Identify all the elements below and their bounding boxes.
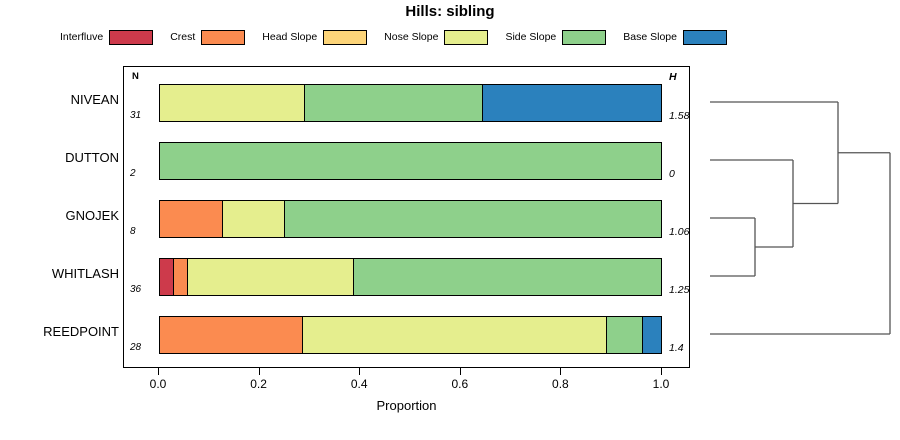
row-n-value: 31 (130, 110, 141, 121)
y-axis-label: GNOJEK (0, 208, 119, 223)
row-n-value: 28 (130, 342, 141, 353)
legend-item-label: Side Slope (505, 31, 556, 43)
row-h-value: 1.4 (669, 342, 684, 354)
h-column-header: H (669, 71, 677, 83)
stacked-bar (159, 200, 662, 238)
legend-item-label: Base Slope (623, 31, 677, 43)
dendrogram-svg (690, 66, 900, 368)
bar-segment (188, 259, 354, 295)
bar-segment (285, 201, 661, 237)
y-axis-label: NIVEAN (0, 92, 119, 107)
stacked-bar (159, 316, 662, 354)
x-axis-tick (259, 368, 260, 375)
y-axis-label: WHITLASH (0, 266, 119, 281)
stacked-bar (159, 258, 662, 296)
legend-item-label: Interfluve (60, 31, 103, 43)
x-axis-tick-label: 0.8 (552, 377, 569, 391)
row-h-value: 0 (669, 168, 675, 180)
bar-segment (354, 259, 661, 295)
bar-segment (305, 85, 483, 121)
legend-item: Crest (170, 30, 245, 45)
bar-segment (483, 85, 661, 121)
bar-segment (160, 201, 223, 237)
bar-segment (643, 317, 661, 353)
bar-segment (607, 317, 643, 353)
row-n-value: 36 (130, 284, 141, 295)
bar-segment (160, 85, 305, 121)
bar-segment (223, 201, 286, 237)
x-axis-tick-label: 0.0 (150, 377, 167, 391)
legend: InterfluveCrestHead SlopeNose SlopeSide … (60, 28, 840, 46)
bar-segment (160, 317, 303, 353)
y-axis-label: DUTTON (0, 150, 119, 165)
legend-item: Nose Slope (384, 30, 488, 45)
stacked-bar (159, 84, 662, 122)
legend-item-label: Nose Slope (384, 31, 438, 43)
bar-segment (303, 317, 607, 353)
bar-row (124, 84, 691, 122)
legend-swatch (562, 30, 606, 45)
legend-swatch (201, 30, 245, 45)
stacked-bar-plot-panel: NH311.582081.06361.25281.4 (123, 66, 690, 368)
bar-segment (174, 259, 188, 295)
x-axis-tick-label: 0.2 (250, 377, 267, 391)
row-h-value: 1.06 (669, 226, 689, 238)
row-n-value: 8 (130, 226, 136, 237)
dendrogram (690, 66, 900, 368)
row-h-value: 1.25 (669, 284, 689, 296)
bar-row (124, 200, 691, 238)
bar-segment (160, 143, 661, 179)
legend-item-label: Crest (170, 31, 195, 43)
bar-segment (160, 259, 174, 295)
bar-row (124, 316, 691, 354)
x-axis-tick (661, 368, 662, 375)
x-axis-tick (460, 368, 461, 375)
legend-swatch (323, 30, 367, 45)
legend-swatch (683, 30, 727, 45)
row-n-value: 2 (130, 168, 136, 179)
x-axis-tick-label: 1.0 (653, 377, 670, 391)
bar-row (124, 142, 691, 180)
page-title: Hills: sibling (0, 3, 900, 20)
x-axis-tick (359, 368, 360, 375)
bar-row (124, 258, 691, 296)
y-axis-label: REEDPOINT (0, 324, 119, 339)
x-axis-tick (158, 368, 159, 375)
x-axis-tick (560, 368, 561, 375)
x-axis-tick-label: 0.4 (351, 377, 368, 391)
legend-item: Interfluve (60, 30, 153, 45)
y-axis-labels: NIVEANDUTTONGNOJEKWHITLASHREEDPOINT (0, 66, 119, 368)
legend-item: Side Slope (505, 30, 606, 45)
n-column-header: N (132, 71, 139, 82)
legend-swatch (109, 30, 153, 45)
row-h-value: 1.58 (669, 110, 689, 122)
legend-item: Base Slope (623, 30, 727, 45)
x-axis-tick-label: 0.6 (451, 377, 468, 391)
legend-swatch (444, 30, 488, 45)
legend-item-label: Head Slope (262, 31, 317, 43)
stacked-bar (159, 142, 662, 180)
legend-item: Head Slope (262, 30, 367, 45)
x-axis-title: Proportion (123, 398, 690, 413)
